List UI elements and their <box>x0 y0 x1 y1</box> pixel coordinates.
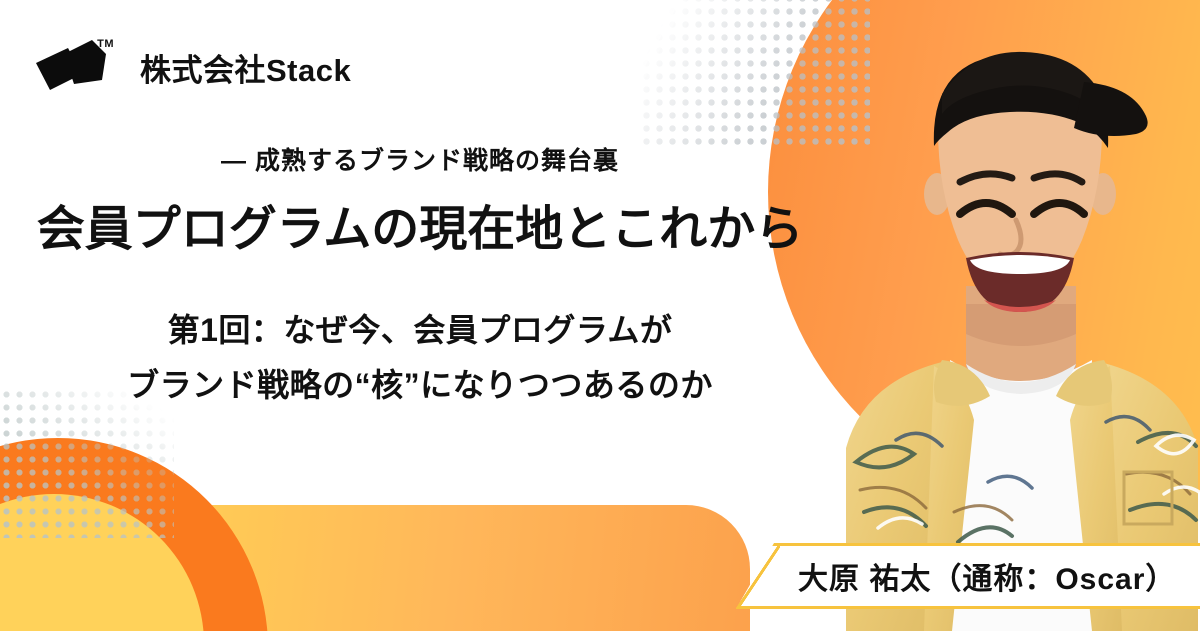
episode-subtitle-line-2: ブランド戦略の“核”になりつつあるのか <box>0 358 840 413</box>
headline-block: — 成熟するブランド戦略の舞台裏 会員プログラムの現在地とこれから 第1回：なぜ… <box>0 146 840 413</box>
name-banner-angled-edge-icon <box>736 543 780 609</box>
presentation-slide: TM 株式会社Stack — 成熟するブランド戦略の舞台裏 会員プログラムの現在… <box>0 0 1200 631</box>
speaker-name-label: 大原 祐太（通称：Oscar） <box>798 543 1200 609</box>
corner-ring-inner-decoration <box>0 494 204 631</box>
speaker-name-banner: 大原 祐太（通称：Oscar） <box>736 543 1200 609</box>
company-name: 株式会社Stack <box>140 45 351 90</box>
stack-polygon-logo-icon: TM <box>34 38 112 96</box>
page-title: 会員プログラムの現在地とこれから <box>0 202 840 259</box>
episode-subtitle-line-1: 第1回：なぜ今、会員プログラムが <box>0 303 840 358</box>
halftone-dots-top-icon <box>640 0 870 146</box>
corner-ring-decoration <box>0 438 268 631</box>
bottom-gradient-bar-decoration <box>0 505 750 631</box>
trademark-symbol: TM <box>97 38 114 50</box>
brand-logo-row: TM 株式会社Stack <box>34 38 351 96</box>
kicker-text: — 成熟するブランド戦略の舞台裏 <box>0 146 840 176</box>
episode-subtitle-group: 第1回：なぜ今、会員プログラムが ブランド戦略の“核”になりつつあるのか <box>0 303 840 413</box>
